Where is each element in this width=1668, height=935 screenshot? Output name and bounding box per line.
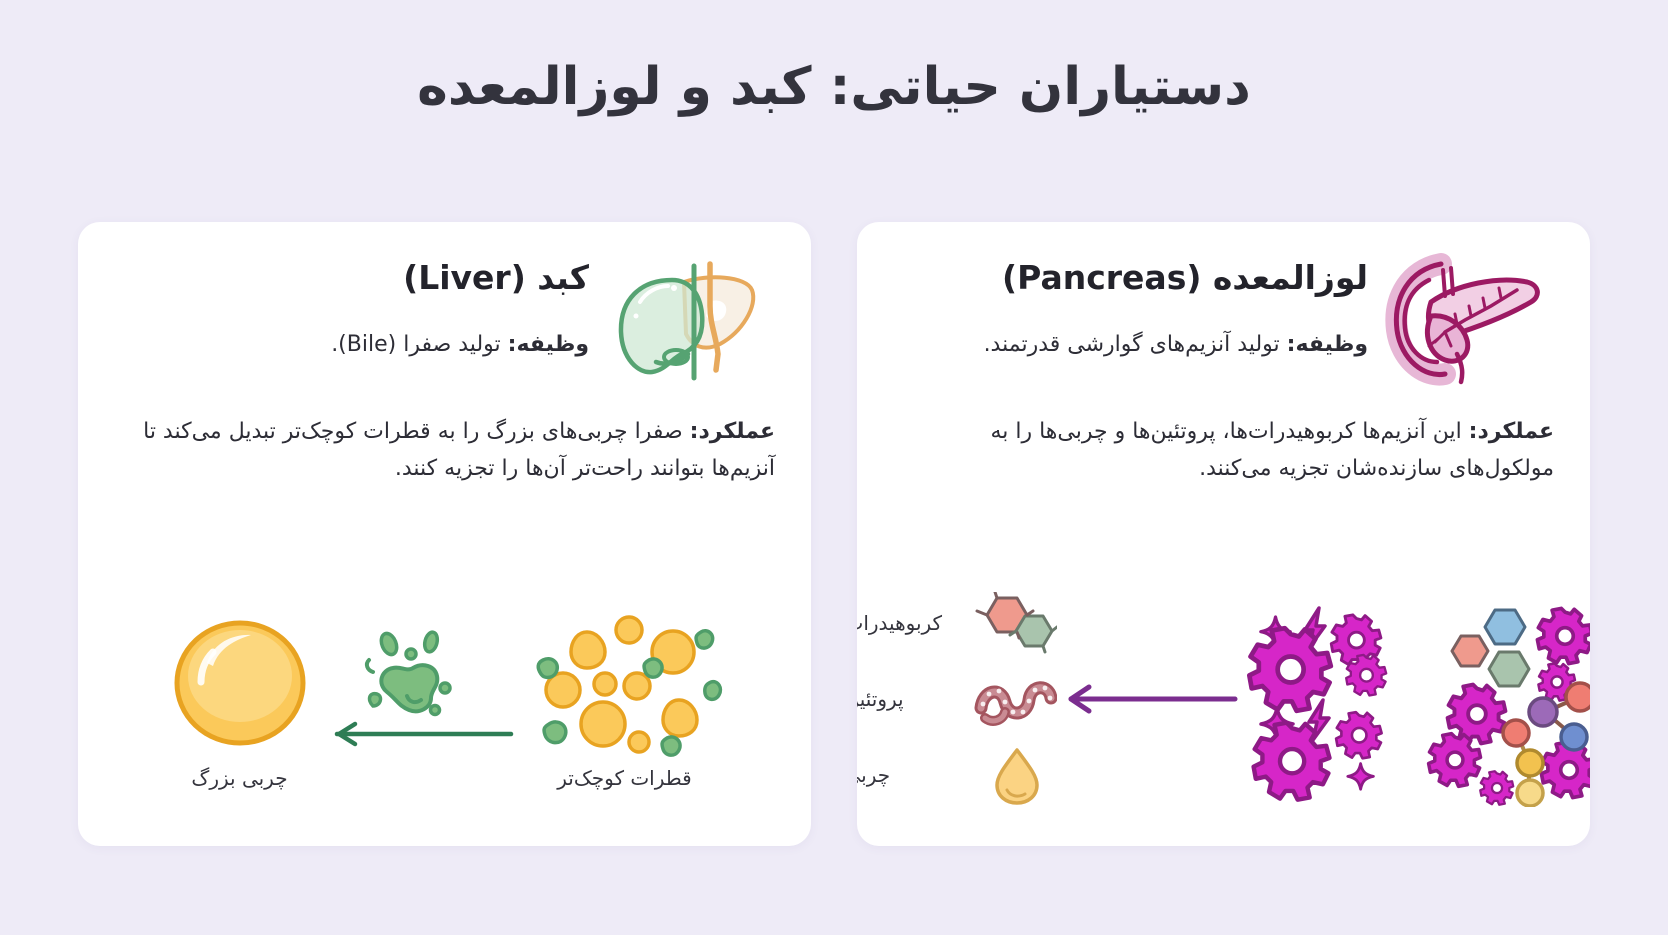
pancreas-arrow-group — [1057, 669, 1247, 729]
pancreas-input-label-carb: کربوهیدرات — [857, 611, 957, 635]
liver-fact: وظیفه: تولید صفرا (Bile). — [112, 328, 589, 362]
liver-process-diagram: چربی بزرگ — [78, 574, 811, 824]
pancreas-fact: وظیفه: تولید آنزیم‌های گوارشی قدرتمند. — [891, 328, 1368, 362]
bile-splash-icon — [366, 631, 449, 715]
protein-chain-icon — [969, 668, 1057, 730]
liver-desc-text: صفرا چربی‌های بزرگ را به قطرات کوچک‌تر ت… — [143, 419, 775, 481]
large-fat-droplet-icon — [165, 608, 315, 758]
liver-output-group: قطرات کوچک‌تر — [525, 608, 725, 790]
card-liver: کبد (Liver) وظیفه: تولید صفرا (Bile). عم… — [78, 222, 811, 846]
cards-container: کبد (Liver) وظیفه: تولید صفرا (Bile). عم… — [78, 222, 1590, 846]
pancreas-inputs: کربوهیدرات — [857, 592, 1057, 806]
pancreas-card-header: لوزالمعده (Pancreas) وظیفه: تولید آنزیم‌… — [891, 248, 1556, 388]
card-pancreas: لوزالمعده (Pancreas) وظیفه: تولید آنزیم‌… — [857, 222, 1590, 846]
pancreas-input-carbohydrate: کربوهیدرات — [857, 592, 1057, 654]
pancreas-input-label-fat: چربی — [857, 763, 957, 787]
liver-icon — [597, 248, 777, 388]
liver-input-caption: چربی بزرگ — [191, 766, 287, 790]
hexagon-sugar-icon — [969, 592, 1057, 654]
pancreas-head-text: لوزالمعده (Pancreas) وظیفه: تولید آنزیم‌… — [891, 248, 1368, 362]
pancreas-title: لوزالمعده (Pancreas) — [891, 258, 1368, 298]
liver-head-text: کبد (Liver) وظیفه: تولید صفرا (Bile). — [112, 248, 589, 362]
liver-input-group: چربی بزرگ — [165, 608, 315, 790]
pancreas-fact-label: وظیفه: — [1287, 332, 1368, 357]
pancreas-input-fat: چربی — [857, 744, 1057, 806]
enzyme-gears-icon — [1247, 594, 1417, 804]
page-title: دستیاران حیاتی: کبد و لوزالمعده — [0, 58, 1668, 118]
small-droplets-cluster-icon — [525, 608, 725, 758]
pancreas-process-diagram: کربوهیدرات — [857, 574, 1590, 824]
broken-down-molecules-icon — [1417, 592, 1591, 807]
arrow-right-purple-icon — [1057, 669, 1247, 729]
liver-fact-label: وظیفه: — [508, 332, 589, 357]
liver-title: کبد (Liver) — [112, 258, 589, 298]
pancreas-description: عملکرد: این آنزیم‌ها کربوهیدرات‌ها، پروت… — [891, 414, 1556, 488]
arrow-right-green-icon — [337, 724, 511, 744]
liver-arrow-group — [315, 614, 525, 784]
fat-droplet-icon — [969, 744, 1057, 806]
pancreas-icon — [1376, 248, 1556, 388]
pancreas-enzymes-group — [1247, 594, 1417, 804]
infographic-page: دستیاران حیاتی: کبد و لوزالمعده — [0, 0, 1668, 935]
pancreas-output-group — [1417, 592, 1591, 807]
liver-description: عملکرد: صفرا چربی‌های بزرگ را به قطرات ک… — [112, 414, 777, 488]
liver-output-caption: قطرات کوچک‌تر — [557, 766, 691, 790]
pancreas-input-protein: پروتئین — [857, 668, 1057, 730]
pancreas-fact-text: تولید آنزیم‌های گوارشی قدرتمند. — [984, 332, 1287, 357]
pancreas-desc-label: عملکرد: — [1469, 419, 1554, 444]
liver-card-header: کبد (Liver) وظیفه: تولید صفرا (Bile). — [112, 248, 777, 388]
liver-fact-text: تولید صفرا (Bile). — [331, 332, 507, 357]
pancreas-input-label-protein: پروتئین — [857, 687, 957, 711]
liver-desc-label: عملکرد: — [690, 419, 775, 444]
